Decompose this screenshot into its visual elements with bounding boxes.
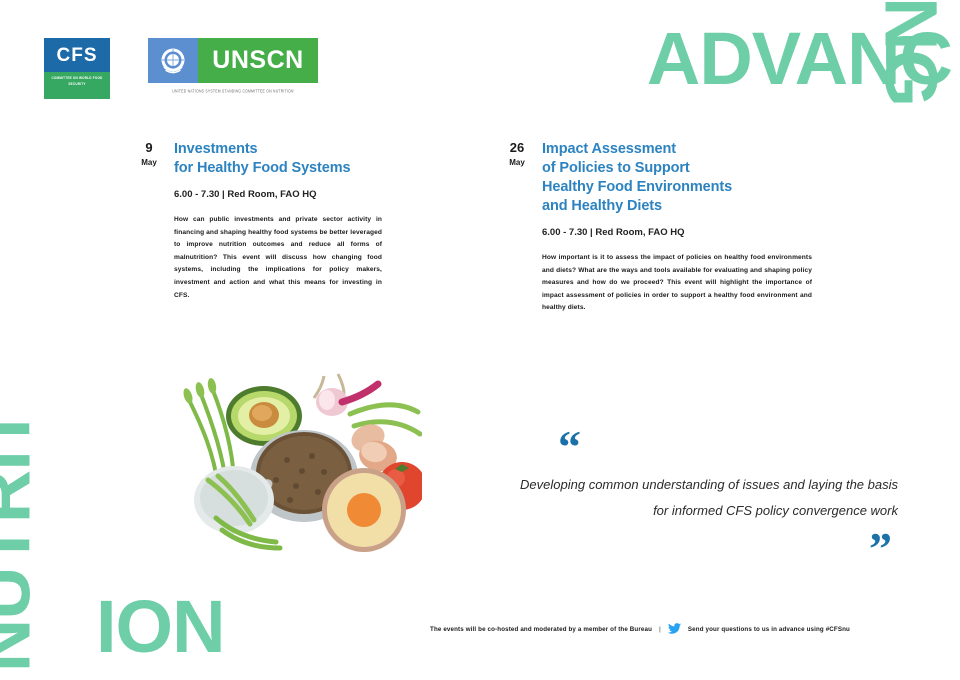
event-title-line-3: Healthy Food Environments [542, 178, 812, 197]
event-date-day: 9 [132, 141, 166, 154]
cfs-logo-bottom: COMMITTEE ON WORLD FOOD SECURITY [44, 72, 110, 99]
poster-canvas: CFS COMMITTEE ON WORLD FOOD SECURITY [0, 0, 960, 680]
cfs-subtitle: COMMITTEE ON WORLD FOOD SECURITY [48, 75, 106, 88]
event-title-line-2: for Healthy Food Systems [174, 159, 382, 178]
unscn-logo: UNSCN UNITED NATIONS SYSTEM STANDING COM… [148, 38, 318, 93]
advancing-line-2: ING [876, 0, 946, 106]
nutrition-line-1: NUTRIT [0, 407, 40, 672]
event-title-line-2: of Policies to Support [542, 159, 812, 178]
quote-text: Developing common understanding of issue… [520, 462, 920, 524]
event-body: Investments for Healthy Food Systems 6.0… [166, 140, 382, 302]
event-title-line-4: and Healthy Diets [542, 197, 812, 216]
event-block-impact-assessment: 26 May Impact Assessment of Policies to … [500, 140, 812, 315]
unscn-acronym: UNSCN [212, 48, 303, 73]
unscn-logo-main: UNSCN [148, 38, 318, 83]
footer-right-text: Send your questions to us in advance usi… [688, 626, 850, 633]
event-description: How can public investments and private s… [174, 214, 382, 302]
advancing-line-1: ADVANC [647, 24, 952, 94]
cfs-acronym: CFS [57, 46, 98, 65]
event-date-month: May [500, 156, 534, 169]
footer-separator: | [659, 626, 661, 633]
cfs-logo-top: CFS [44, 38, 110, 72]
event-title-line-1: Investments [174, 140, 382, 159]
twitter-bird-icon[interactable] [668, 623, 681, 636]
logo-row: CFS COMMITTEE ON WORLD FOOD SECURITY [44, 38, 318, 99]
event-title-line-1: Impact Assessment [542, 140, 812, 159]
healthy-food-photo [172, 368, 422, 558]
footer-bar: The events will be co-hosted and moderat… [360, 623, 920, 636]
event-date-day: 26 [500, 141, 534, 154]
unscn-caption: UNITED NATIONS SYSTEM STANDING COMMITTEE… [148, 87, 318, 95]
nutrition-line-2: ION [96, 592, 225, 662]
event-time-venue: 6.00 - 7.30 | Red Room, FAO HQ [174, 189, 382, 201]
event-date: 26 May [500, 140, 534, 169]
event-date: 9 May [132, 140, 166, 169]
quote-close-mark: ” [520, 534, 920, 564]
event-block-investments: 9 May Investments for Healthy Food Syste… [132, 140, 382, 302]
event-title: Impact Assessment of Policies to Support… [542, 140, 812, 216]
quote-open-mark: “ [520, 432, 920, 462]
event-date-month: May [132, 156, 166, 169]
un-emblem-icon [148, 38, 198, 83]
event-time-venue: 6.00 - 7.30 | Red Room, FAO HQ [542, 227, 812, 239]
quote-block: “ Developing common understanding of iss… [520, 432, 920, 564]
event-title: Investments for Healthy Food Systems [174, 140, 382, 178]
event-body: Impact Assessment of Policies to Support… [534, 140, 812, 315]
event-description: How important is it to assess the impact… [542, 252, 812, 315]
cfs-logo: CFS COMMITTEE ON WORLD FOOD SECURITY [44, 38, 110, 99]
footer-left-text: The events will be co-hosted and moderat… [430, 626, 652, 633]
unscn-name-block: UNSCN [198, 38, 318, 83]
